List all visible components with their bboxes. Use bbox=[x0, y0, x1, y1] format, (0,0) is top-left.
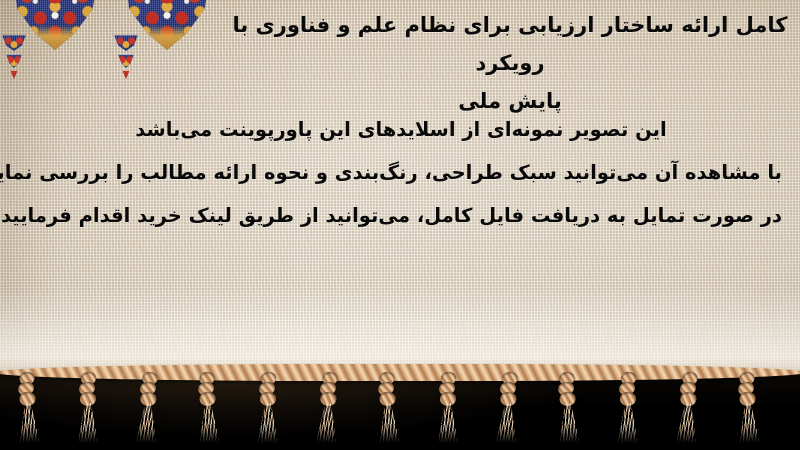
fringe-threads bbox=[676, 402, 698, 443]
fringe-tassel bbox=[258, 370, 278, 444]
fringe-tassel bbox=[438, 370, 458, 444]
fringe-tassel bbox=[556, 370, 580, 445]
fringe-threads bbox=[738, 402, 760, 443]
slide-body-line-3: در صورت تمایل به دریافت فایل کامل، می‌تو… bbox=[20, 194, 782, 237]
fringe-tassel bbox=[676, 370, 700, 445]
fringe-tassel bbox=[196, 370, 220, 445]
fringe-tassel bbox=[16, 370, 40, 445]
fringe-threads bbox=[618, 403, 638, 443]
fringe-threads bbox=[78, 403, 98, 443]
presentation-slide: کامل ارائه ساختار ارزیابی برای نظام علم … bbox=[0, 0, 800, 450]
fringe-tassel bbox=[78, 370, 98, 444]
fringe-tassel bbox=[618, 370, 638, 444]
slide-title: کامل ارائه ساختار ارزیابی برای نظام علم … bbox=[230, 6, 790, 120]
fringe-threads bbox=[438, 403, 458, 443]
fringe-tassel bbox=[376, 370, 400, 445]
fringe-tassel bbox=[496, 370, 520, 445]
fringe-threads bbox=[496, 402, 518, 443]
slide-body-line-1: این تصویر نمونه‌ای از اسلایدهای این پاور… bbox=[20, 108, 782, 151]
fringe-tassel bbox=[736, 370, 760, 445]
slide-body-line-2: با مشاهده آن می‌توانید سبک طراحی، رنگ‌بن… bbox=[20, 151, 782, 194]
fringe-tassel bbox=[136, 370, 160, 445]
fringe-threads bbox=[316, 402, 338, 443]
fringe-threads bbox=[18, 402, 40, 443]
fringe-threads bbox=[198, 402, 220, 443]
slide-body-text: این تصویر نمونه‌ای از اسلایدهای این پاور… bbox=[20, 108, 782, 237]
fringe-tassel bbox=[316, 370, 340, 445]
fringe-threads bbox=[136, 402, 158, 443]
fringe-threads bbox=[258, 403, 278, 443]
slide-title-line-1: کامل ارائه ساختار ارزیابی برای نظام علم … bbox=[230, 6, 790, 82]
fringe-threads bbox=[378, 402, 400, 443]
fringe-threads bbox=[558, 402, 580, 443]
